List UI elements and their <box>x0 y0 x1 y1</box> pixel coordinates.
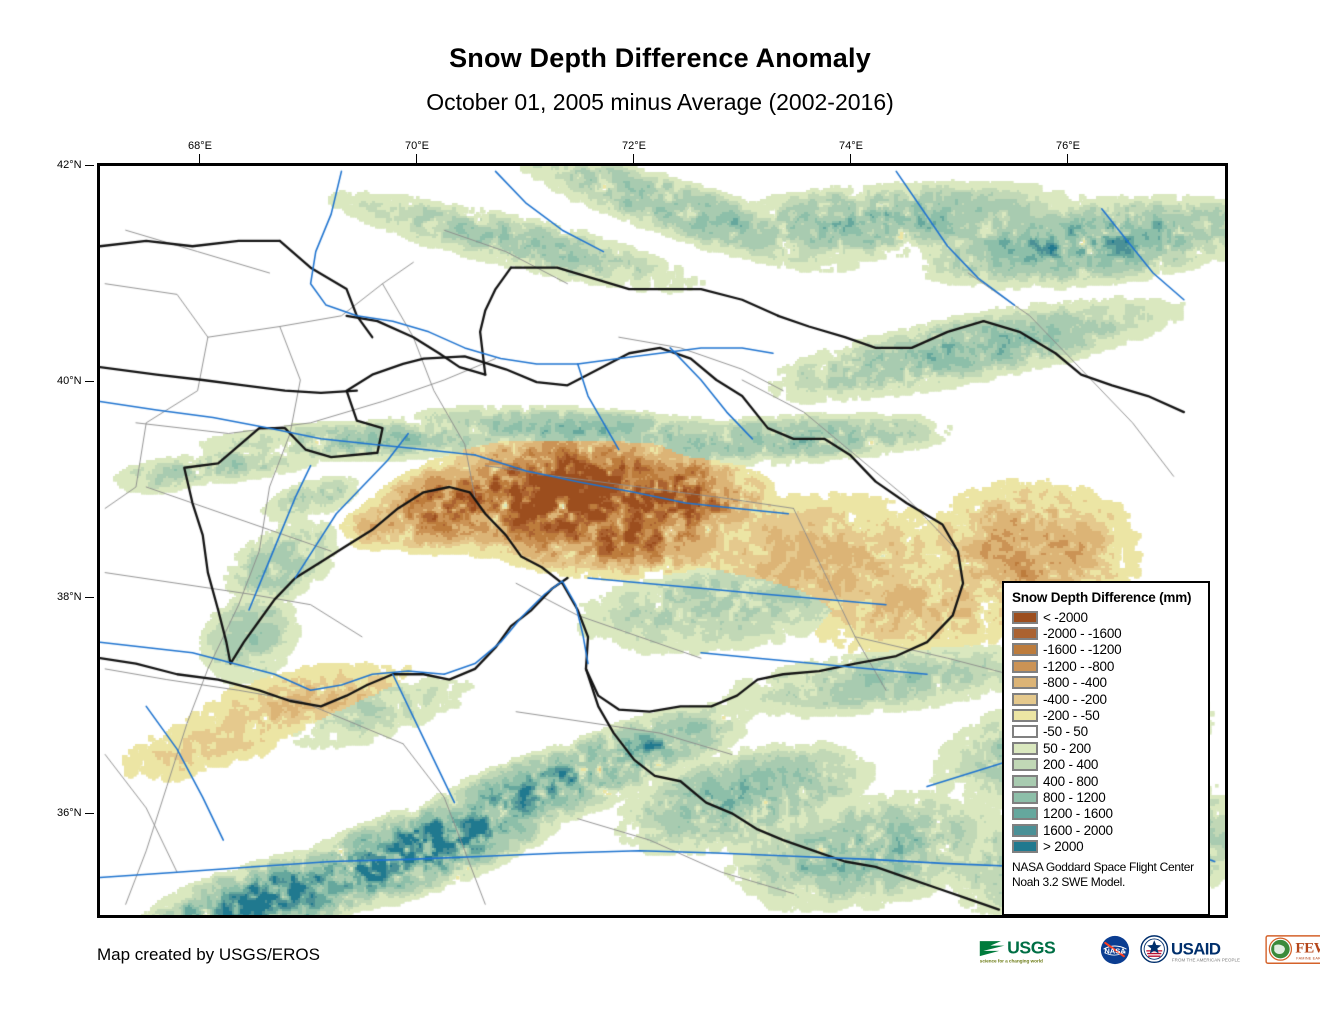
legend-row: -1200 - -800 <box>1012 658 1202 674</box>
legend-row: -50 - 50 <box>1012 724 1202 740</box>
legend-swatch <box>1012 775 1038 788</box>
legend-label: 400 - 800 <box>1043 774 1098 789</box>
legend-label: -200 - -50 <box>1043 708 1100 723</box>
legend-swatch <box>1012 693 1038 706</box>
legend-label: -1600 - -1200 <box>1043 642 1121 657</box>
fewsnet-logo: FEWS NET FAMINE EARLY WARNING SYSTEMS NE… <box>1265 935 1320 965</box>
legend-row: -400 - -200 <box>1012 691 1202 707</box>
lat-tick-38n: 38°N <box>57 591 94 603</box>
lat-tick-label: 42°N <box>57 159 82 171</box>
legend-label: -50 - 50 <box>1043 724 1088 739</box>
legend-swatch <box>1012 840 1038 853</box>
lon-tick-76e: 76°E <box>1056 140 1080 163</box>
tick-mark <box>633 154 634 163</box>
lat-tick-40n: 40°N <box>57 375 94 387</box>
legend-label: 50 - 200 <box>1043 741 1091 756</box>
legend-row: 50 - 200 <box>1012 740 1202 756</box>
legend-label: 1200 - 1600 <box>1043 806 1113 821</box>
legend-swatch <box>1012 676 1038 689</box>
legend-label: 1600 - 2000 <box>1043 823 1113 838</box>
tick-mark <box>199 154 200 163</box>
legend-row: 400 - 800 <box>1012 773 1202 789</box>
legend-row: > 2000 <box>1012 838 1202 854</box>
lon-tick-68e: 68°E <box>188 140 212 163</box>
legend-label: 800 - 1200 <box>1043 790 1106 805</box>
map-legend: Snow Depth Difference (mm) < -2000-2000 … <box>1002 581 1210 916</box>
tick-mark <box>85 165 94 166</box>
legend-source-line-2: Noah 3.2 SWE Model. <box>1012 875 1202 890</box>
page-title: Snow Depth Difference Anomaly <box>0 44 1320 74</box>
svg-text:science for a changing world: science for a changing world <box>980 958 1043 964</box>
svg-text:NASA: NASA <box>1104 947 1126 956</box>
lon-tick-label: 68°E <box>188 140 212 152</box>
legend-row: -1600 - -1200 <box>1012 642 1202 658</box>
legend-swatch <box>1012 758 1038 771</box>
legend-swatch <box>1012 807 1038 820</box>
lat-tick-label: 40°N <box>57 375 82 387</box>
tick-mark <box>85 813 94 814</box>
svg-text:FEWS NET: FEWS NET <box>1295 941 1320 957</box>
legend-swatch <box>1012 627 1038 640</box>
legend-row: 200 - 400 <box>1012 757 1202 773</box>
legend-label: < -2000 <box>1043 610 1088 625</box>
legend-items: < -2000-2000 - -1600-1600 - -1200-1200 -… <box>1012 609 1202 855</box>
lon-tick-label: 74°E <box>839 140 863 152</box>
footer-credit: Map created by USGS/EROS <box>97 945 320 965</box>
title-block: Snow Depth Difference Anomaly October 01… <box>0 44 1320 115</box>
legend-swatch <box>1012 742 1038 755</box>
logo-bar: USGS science for a changing world NASA U… <box>978 933 1320 967</box>
legend-swatch <box>1012 824 1038 837</box>
legend-label: -1200 - -800 <box>1043 659 1114 674</box>
svg-text:FROM THE AMERICAN PEOPLE: FROM THE AMERICAN PEOPLE <box>1172 957 1240 962</box>
tick-mark <box>85 597 94 598</box>
legend-swatch <box>1012 709 1038 722</box>
legend-swatch <box>1012 725 1038 738</box>
usaid-logo: USAID FROM THE AMERICAN PEOPLE <box>1139 935 1256 965</box>
lon-tick-72e: 72°E <box>622 140 646 163</box>
legend-source-line-1: NASA Goddard Space Flight Center <box>1012 860 1202 875</box>
lat-tick-label: 38°N <box>57 591 82 603</box>
legend-label: -800 - -400 <box>1043 675 1107 690</box>
legend-title: Snow Depth Difference (mm) <box>1012 590 1202 605</box>
legend-label: -2000 - -1600 <box>1043 626 1121 641</box>
legend-row: -200 - -50 <box>1012 707 1202 723</box>
tick-mark <box>85 381 94 382</box>
tick-mark <box>416 154 417 163</box>
legend-row: -800 - -400 <box>1012 675 1202 691</box>
legend-label: > 2000 <box>1043 839 1083 854</box>
lon-tick-label: 76°E <box>1056 140 1080 152</box>
tick-mark <box>850 154 851 163</box>
legend-row: -2000 - -1600 <box>1012 625 1202 641</box>
legend-row: 1200 - 1600 <box>1012 806 1202 822</box>
svg-text:FAMINE EARLY WARNING SYSTEMS N: FAMINE EARLY WARNING SYSTEMS NETWORK <box>1296 957 1320 961</box>
legend-row: 1600 - 2000 <box>1012 822 1202 838</box>
tick-mark <box>1067 154 1068 163</box>
lat-tick-42n: 42°N <box>57 159 94 171</box>
nasa-logo: NASA <box>1100 935 1130 965</box>
legend-row: 800 - 1200 <box>1012 789 1202 805</box>
lon-tick-74e: 74°E <box>839 140 863 163</box>
legend-swatch <box>1012 660 1038 673</box>
legend-swatch <box>1012 611 1038 624</box>
legend-swatch <box>1012 643 1038 656</box>
lon-tick-70e: 70°E <box>405 140 429 163</box>
lon-tick-label: 72°E <box>622 140 646 152</box>
lat-tick-label: 36°N <box>57 807 82 819</box>
page-subtitle: October 01, 2005 minus Average (2002-201… <box>0 90 1320 115</box>
usgs-logo: USGS science for a changing world <box>978 935 1091 965</box>
svg-text:USGS: USGS <box>1007 938 1056 958</box>
legend-label: -400 - -200 <box>1043 692 1107 707</box>
legend-label: 200 - 400 <box>1043 757 1098 772</box>
lon-tick-label: 70°E <box>405 140 429 152</box>
legend-row: < -2000 <box>1012 609 1202 625</box>
legend-swatch <box>1012 791 1038 804</box>
legend-source-note: NASA Goddard Space Flight Center Noah 3.… <box>1012 860 1202 890</box>
lat-tick-36n: 36°N <box>57 807 94 819</box>
svg-text:USAID: USAID <box>1171 939 1221 958</box>
